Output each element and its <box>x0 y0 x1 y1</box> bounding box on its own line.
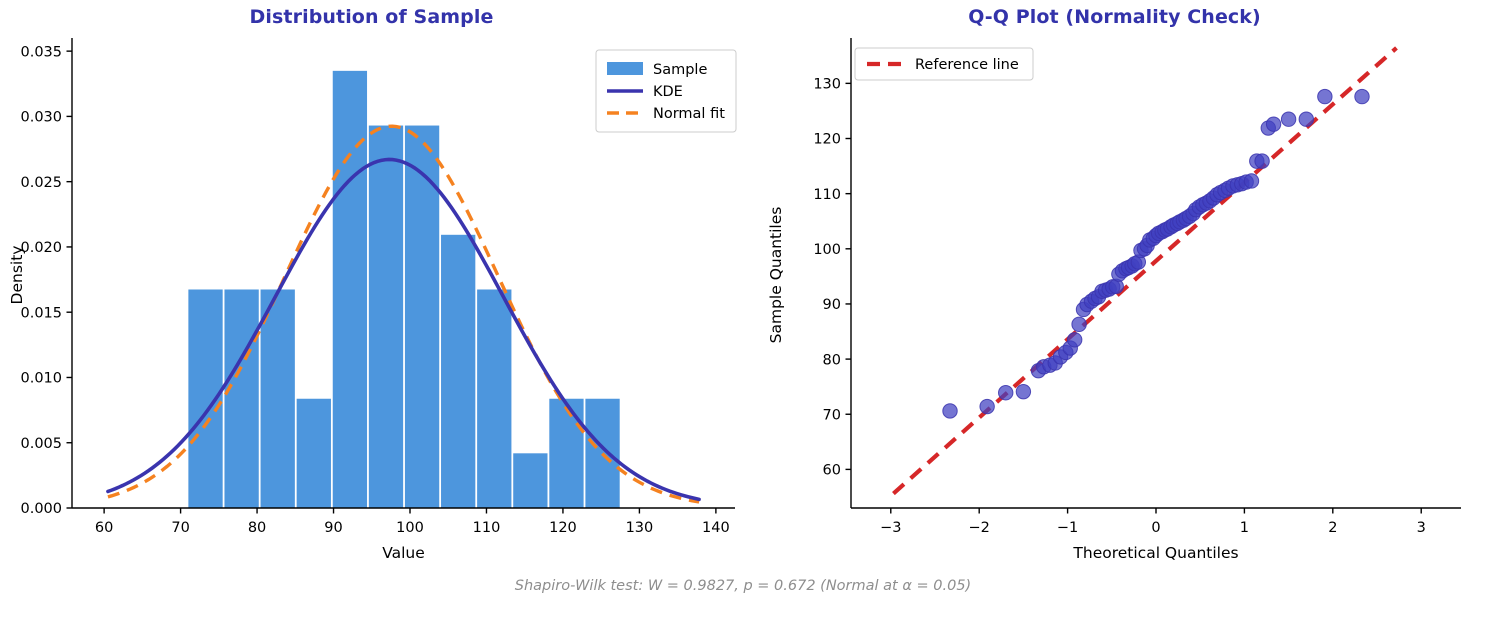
reference-line <box>893 48 1396 494</box>
y-tick-label: 0.030 <box>20 110 62 126</box>
histogram-bar <box>333 71 367 508</box>
qq-panel: Q-Q Plot (Normality Check) −3−2−10123607… <box>743 0 1486 575</box>
x-tick-label: −3 <box>880 520 901 536</box>
x-tick-label: 70 <box>171 520 189 536</box>
x-tick-label: 110 <box>473 520 501 536</box>
histogram-bar <box>513 453 547 508</box>
qq-point <box>999 386 1013 400</box>
figure-root: Distribution of Sample 60708090100110120… <box>0 0 1486 623</box>
histogram-plot: 607080901001101201301400.0000.0050.0100.… <box>0 0 743 575</box>
x-tick-label: 80 <box>248 520 266 536</box>
x-tick-label: 1 <box>1240 520 1249 536</box>
x-tick-label: 3 <box>1417 520 1426 536</box>
x-tick-label: 100 <box>396 520 424 536</box>
y-tick-label: 90 <box>823 297 841 313</box>
y-axis-label: Density <box>8 246 26 305</box>
qq-point <box>1266 117 1280 131</box>
histogram-bar <box>441 235 475 508</box>
legend-label-reference-line: Reference line <box>915 57 1019 73</box>
y-tick-label: 70 <box>823 407 841 423</box>
qq-point <box>1355 89 1369 103</box>
histogram-bar <box>477 289 511 508</box>
y-tick-label: 80 <box>823 352 841 368</box>
legend-label-sample: Sample <box>653 62 707 78</box>
qq-point <box>1072 317 1086 331</box>
histogram-bar <box>224 289 258 508</box>
x-tick-label: 130 <box>626 520 654 536</box>
y-tick-label: 130 <box>813 77 841 93</box>
qq-point <box>1067 333 1081 347</box>
y-tick-label: 0.020 <box>20 240 62 256</box>
legend-label-kde: KDE <box>653 84 683 100</box>
qq-point <box>1244 174 1258 188</box>
histogram-bar <box>297 399 331 508</box>
y-tick-label: 100 <box>813 242 841 258</box>
y-axis-ticks: 0.0000.0050.0100.0150.0200.0250.0300.035 <box>20 44 72 517</box>
histogram-panel: Distribution of Sample 60708090100110120… <box>0 0 743 575</box>
legend-swatch-sample <box>607 62 643 75</box>
y-tick-label: 110 <box>813 187 841 203</box>
y-tick-label: 120 <box>813 132 841 148</box>
shapiro-wilk-note: Shapiro-Wilk test: W = 0.9827, p = 0.672… <box>0 578 1486 594</box>
qq-point <box>1318 89 1332 103</box>
y-axis-ticks: 60708090100110120130 <box>813 77 851 479</box>
qq-point <box>1281 112 1295 126</box>
x-tick-label: 90 <box>324 520 342 536</box>
y-tick-label: 0.010 <box>20 371 62 387</box>
x-tick-label: 2 <box>1328 520 1337 536</box>
x-axis-label: Value <box>382 544 425 562</box>
y-tick-label: 0.025 <box>20 175 62 191</box>
x-tick-label: 140 <box>702 520 730 536</box>
qq-legend: Reference line <box>855 48 1033 80</box>
histogram-bar <box>369 126 403 508</box>
qq-point <box>980 399 994 413</box>
legend-label-normal-fit: Normal fit <box>653 106 725 122</box>
histogram-legend: SampleKDENormal fit <box>596 50 736 132</box>
x-axis-ticks: −3−2−10123 <box>880 508 1426 536</box>
histogram-bars <box>188 71 619 508</box>
y-tick-label: 0.015 <box>20 305 62 321</box>
y-tick-label: 0.000 <box>20 501 62 517</box>
qq-point <box>1255 154 1269 168</box>
y-tick-label: 60 <box>823 463 841 479</box>
y-tick-label: 0.005 <box>20 436 62 452</box>
x-tick-label: 60 <box>95 520 113 536</box>
x-axis-label: Theoretical Quantiles <box>1072 544 1238 562</box>
histogram-bar <box>261 289 295 508</box>
x-tick-label: 120 <box>549 520 577 536</box>
qq-point <box>943 404 957 418</box>
qq-plot: −3−2−1012360708090100110120130Theoretica… <box>743 0 1486 575</box>
x-tick-label: 0 <box>1151 520 1160 536</box>
qq-point <box>1299 112 1313 126</box>
y-axis-label: Sample Quantiles <box>767 207 785 344</box>
qq-point <box>1016 384 1030 398</box>
x-axis-ticks: 60708090100110120130140 <box>95 508 730 536</box>
x-tick-label: −2 <box>969 520 990 536</box>
x-tick-label: −1 <box>1057 520 1078 536</box>
qq-points <box>943 89 1369 418</box>
y-tick-label: 0.035 <box>20 44 62 60</box>
histogram-bar <box>549 399 583 508</box>
